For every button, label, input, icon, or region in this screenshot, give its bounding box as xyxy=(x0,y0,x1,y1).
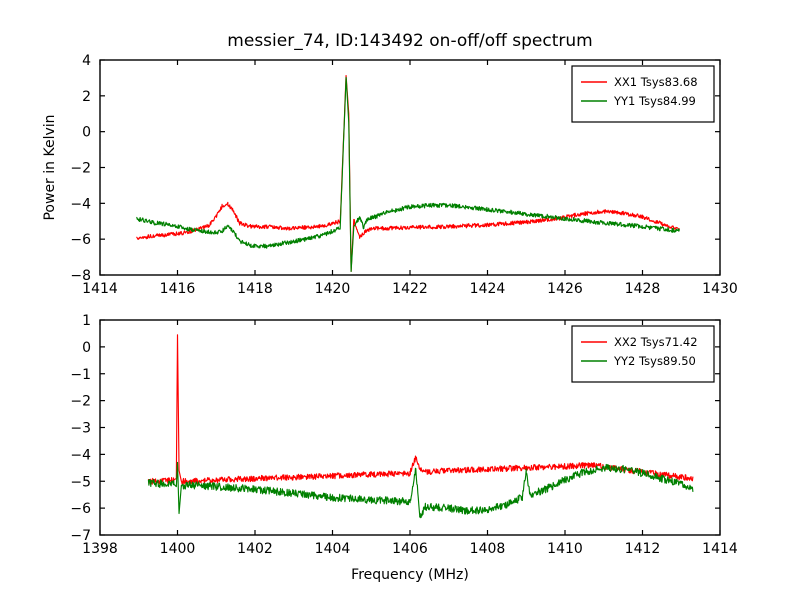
x-tick-label: 1422 xyxy=(392,281,428,297)
y-tick-label: −3 xyxy=(70,421,91,437)
x-tick-label: 1428 xyxy=(625,281,661,297)
y-tick-label: −5 xyxy=(70,474,91,490)
y-tick-label: −6 xyxy=(70,232,91,248)
figure-canvas: 141414161418142014221424142614281430−8−6… xyxy=(0,0,800,600)
y-tick-label: −4 xyxy=(70,196,91,212)
y-tick-label: −7 xyxy=(70,528,91,544)
legend-entry-label: XX2 Tsys71.42 xyxy=(614,335,698,349)
y-tick-label: −2 xyxy=(70,161,91,177)
y-tick-label: −6 xyxy=(70,501,91,517)
legend-bottom: XX2 Tsys71.42YY2 Tsys89.50 xyxy=(572,326,714,382)
plot-title: messier_74, ID:143492 on-off/off spectru… xyxy=(227,31,592,51)
x-tick-label: 1414 xyxy=(702,541,738,557)
y-tick-label: 0 xyxy=(82,125,91,141)
y-tick-label: −1 xyxy=(70,367,91,383)
y-tick-label: 2 xyxy=(82,89,91,105)
y-tick-label: −2 xyxy=(70,394,91,410)
spectrum-figure: 141414161418142014221424142614281430−8−6… xyxy=(0,0,800,600)
x-tick-label: 1404 xyxy=(315,541,351,557)
legend-entry-label: YY1 Tsys84.99 xyxy=(613,94,696,108)
y-tick-label: 4 xyxy=(82,53,91,69)
x-axis-label: Frequency (MHz) xyxy=(351,567,469,583)
x-tick-label: 1410 xyxy=(547,541,583,557)
x-tick-label: 1426 xyxy=(547,281,583,297)
plot-panel-bottom: 139814001402140414061408141014121414−7−6… xyxy=(70,313,738,583)
y-axis-label: Power in Kelvin xyxy=(42,114,58,220)
x-tick-label: 1418 xyxy=(237,281,273,297)
x-tick-label: 1416 xyxy=(160,281,196,297)
y-tick-label: −8 xyxy=(70,268,91,284)
x-tick-label: 1400 xyxy=(160,541,196,557)
y-tick-label: 1 xyxy=(82,313,91,329)
legend-top: XX1 Tsys83.68YY1 Tsys84.99 xyxy=(572,66,714,122)
x-tick-label: 1420 xyxy=(315,281,351,297)
x-tick-label: 1424 xyxy=(470,281,506,297)
x-tick-label: 1408 xyxy=(470,541,506,557)
plot-panel-top: 141414161418142014221424142614281430−8−6… xyxy=(42,31,738,297)
legend-entry-label: YY2 Tsys89.50 xyxy=(613,354,696,368)
x-tick-label: 1412 xyxy=(625,541,661,557)
x-tick-label: 1406 xyxy=(392,541,428,557)
y-tick-label: −4 xyxy=(70,447,91,463)
legend-entry-label: XX1 Tsys83.68 xyxy=(614,75,698,89)
x-tick-label: 1402 xyxy=(237,541,273,557)
x-tick-label: 1430 xyxy=(702,281,738,297)
y-tick-label: 0 xyxy=(82,340,91,356)
